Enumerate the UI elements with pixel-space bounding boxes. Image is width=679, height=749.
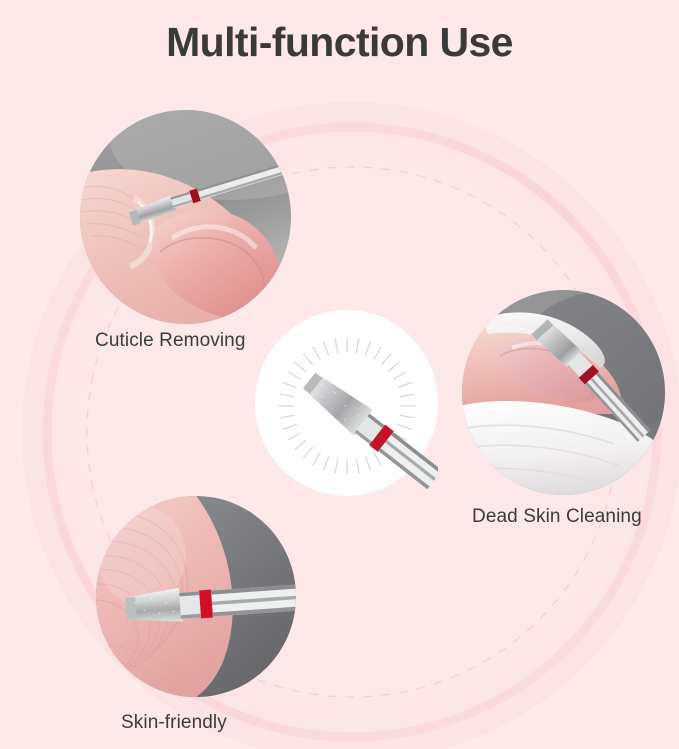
caption-dead-skin-cleaning: Dead Skin Cleaning	[472, 506, 642, 528]
feature-photo-skin-friendly[interactable]	[96, 496, 296, 697]
center-product-dial[interactable]	[255, 310, 438, 496]
page-title: Multi-function Use	[0, 19, 679, 66]
product-feature-poster: Multi-function Use	[0, 0, 679, 749]
feature-photo-cuticle-removing[interactable]	[80, 110, 291, 324]
photo-circle-icon	[462, 290, 665, 495]
feature-photo-dead-skin-cleaning[interactable]	[462, 290, 665, 495]
caption-skin-friendly: Skin-friendly	[121, 712, 227, 734]
photo-circle-icon	[80, 110, 291, 324]
drill-bit-icon	[299, 368, 438, 492]
caption-cuticle-removing: Cuticle Removing	[95, 330, 246, 352]
photo-circle-icon	[96, 496, 296, 697]
radial-dial-icon	[255, 310, 438, 496]
